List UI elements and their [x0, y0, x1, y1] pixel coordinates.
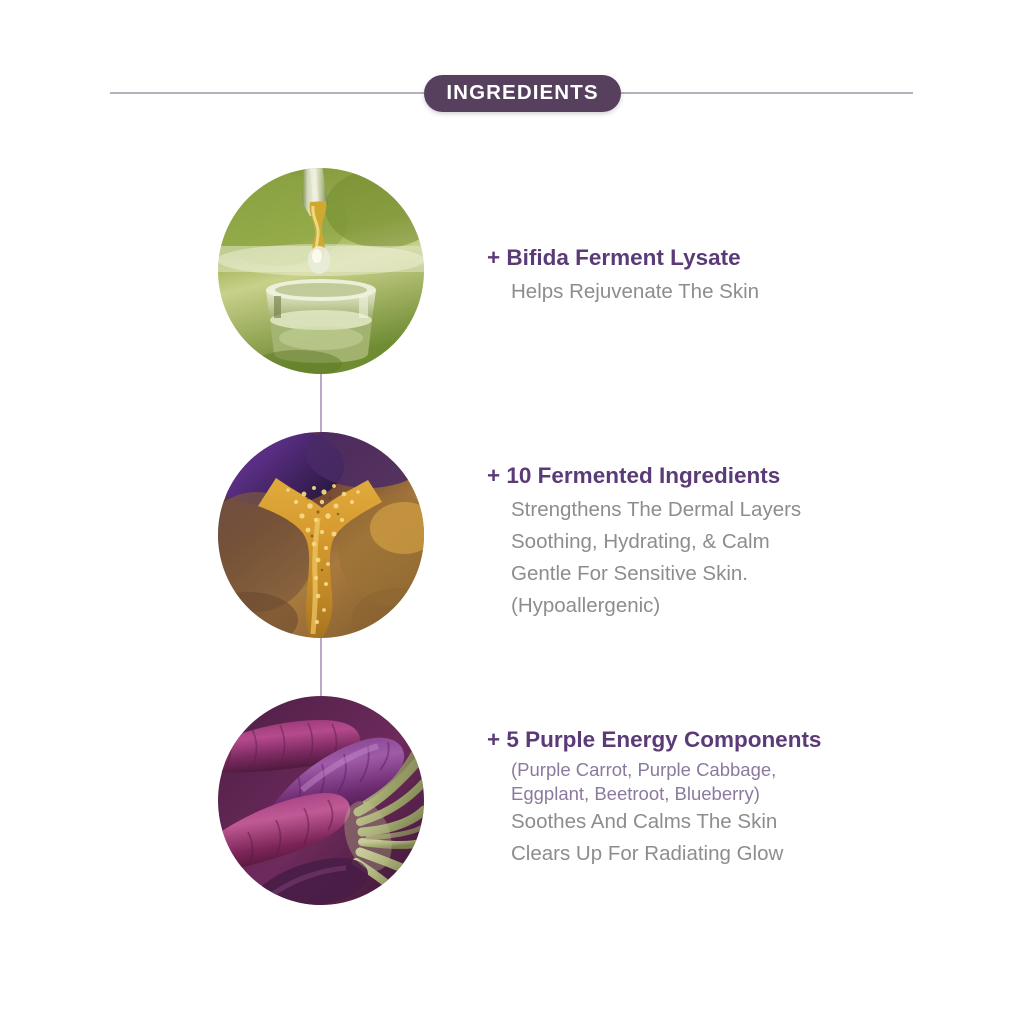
ingredient-benefit: Soothing, Hydrating, & Calm	[511, 526, 957, 558]
ingredient-benefit: (Hypoallergenic)	[511, 590, 957, 622]
purple-carrots-photo	[218, 696, 424, 905]
ingredient-benefit: Clears Up For Radiating Glow	[511, 838, 957, 870]
ingredients-badge-label: INGREDIENTS	[446, 83, 598, 104]
ingredient-benefit-list: Helps Rejuvenate The Skin	[487, 276, 957, 308]
ingredient-benefit: Soothes And Calms The Skin	[511, 806, 957, 838]
ingredient-row: + Bifida Ferment Lysate Helps Rejuvenate…	[0, 168, 1024, 378]
connector-line-1	[320, 372, 322, 436]
ingredients-badge: INGREDIENTS	[424, 75, 621, 112]
connector-line-2	[320, 636, 322, 700]
ingredient-heading: + Bifida Ferment Lysate	[487, 244, 957, 272]
ingredient-benefit-list: (Purple Carrot, Purple Cabbage, Eggplant…	[487, 758, 957, 870]
ingredient-benefit: Helps Rejuvenate The Skin	[511, 276, 957, 308]
ingredient-row: + 10 Fermented Ingredients Strengthens T…	[0, 432, 1024, 642]
ingredient-component-list-line: (Purple Carrot, Purple Cabbage,	[511, 758, 957, 782]
golden-fermented-oil-pour-photo	[218, 432, 424, 638]
ingredient-heading: + 10 Fermented Ingredients	[487, 462, 957, 490]
ingredient-benefit: Gentle For Sensitive Skin.	[511, 558, 957, 590]
ingredient-text: + Bifida Ferment Lysate Helps Rejuvenate…	[487, 244, 957, 308]
ingredient-benefit: Strengthens The Dermal Layers	[511, 494, 957, 526]
ingredient-row: + 5 Purple Energy Components (Purple Car…	[0, 696, 1024, 908]
ingredient-component-list-line: Eggplant, Beetroot, Blueberry)	[511, 782, 957, 806]
ingredients-infographic: INGREDIENTS	[0, 0, 1024, 1024]
ingredient-text: + 10 Fermented Ingredients Strengthens T…	[487, 462, 957, 622]
header-rule-left	[110, 92, 424, 94]
ingredient-heading: + 5 Purple Energy Components	[487, 726, 957, 754]
ingredient-text: + 5 Purple Energy Components (Purple Car…	[487, 726, 957, 870]
header-rule-right	[621, 92, 913, 94]
section-header: INGREDIENTS	[0, 70, 1024, 116]
ingredient-benefit-list: Strengthens The Dermal Layers Soothing, …	[487, 494, 957, 622]
dropper-oil-on-glass-jar-photo	[218, 168, 424, 374]
